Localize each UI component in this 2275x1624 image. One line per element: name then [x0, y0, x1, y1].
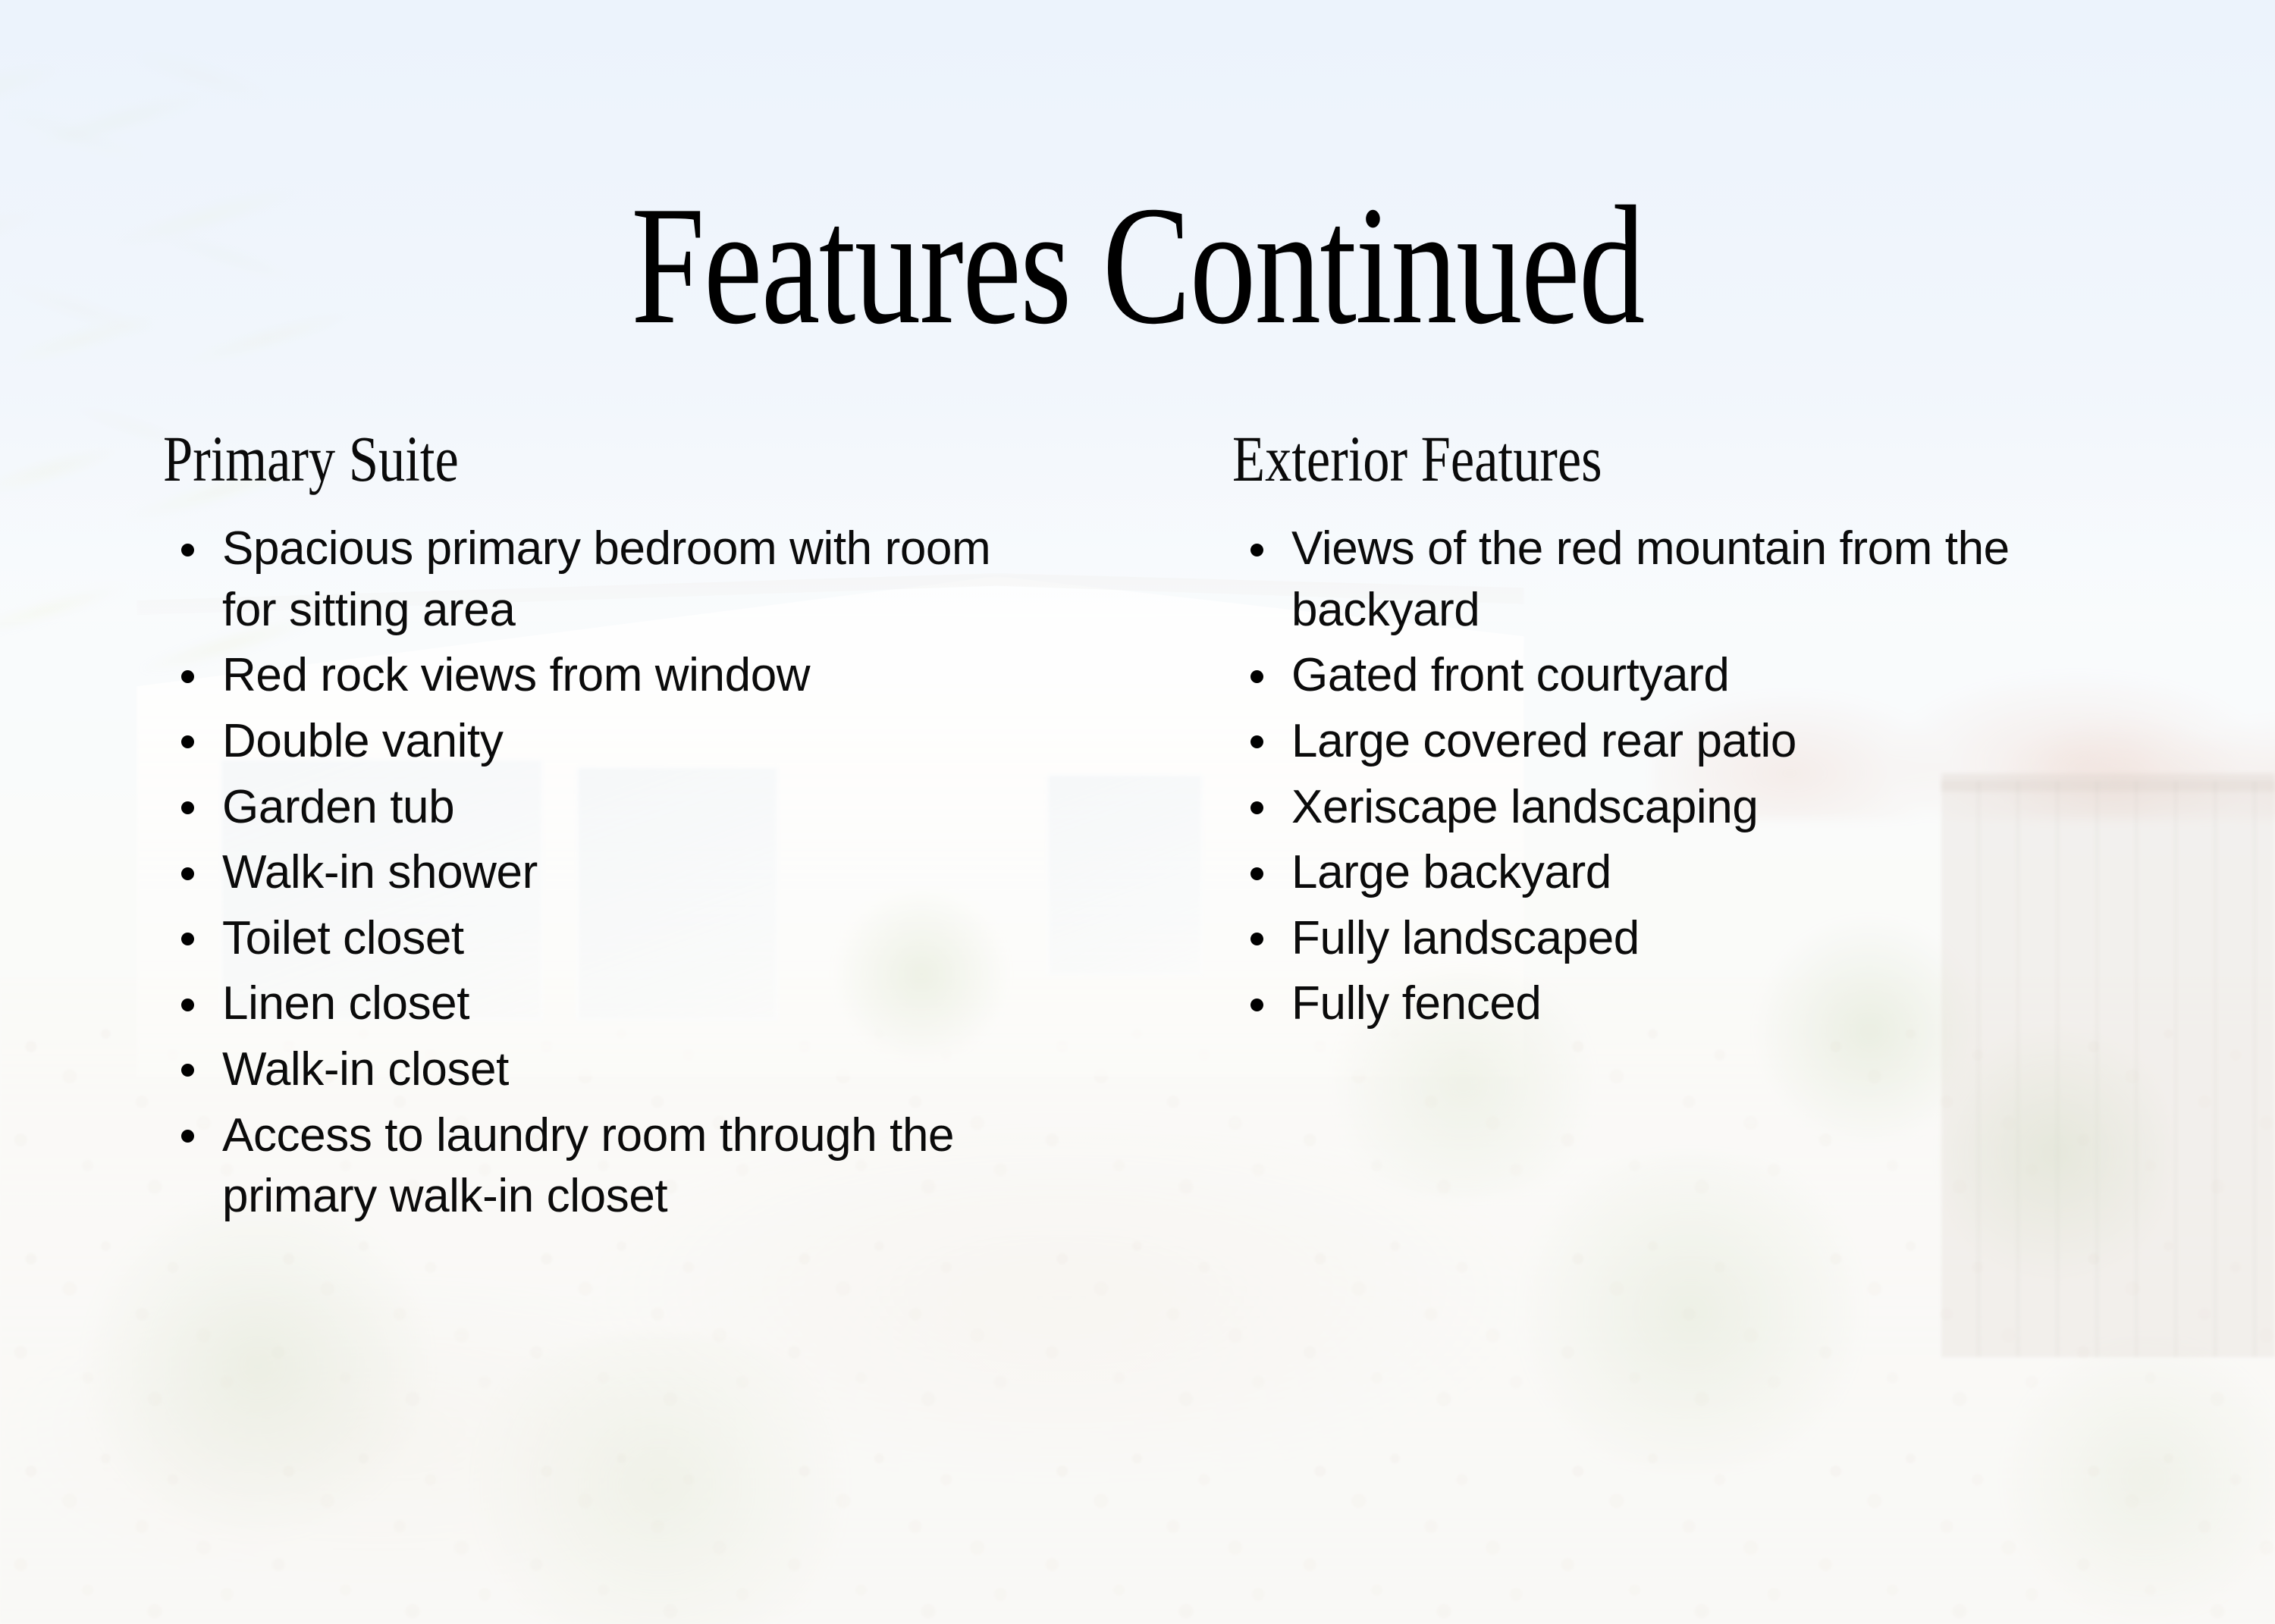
- column-heading-primary-suite: Primary Suite: [163, 425, 921, 493]
- list-item: Large covered rear patio: [1232, 711, 2080, 773]
- list-item: Double vanity: [163, 711, 1026, 773]
- list-item: Garden tub: [163, 777, 1026, 839]
- column-exterior-features: Exterior Features Views of the red mount…: [1232, 425, 2127, 1039]
- list-item: Xeriscape landscaping: [1232, 777, 2080, 839]
- list-item: Toilet closet: [163, 908, 1026, 970]
- list-item: Red rock views from window: [163, 645, 1026, 707]
- slide-canvas: Features Continued Primary Suite Spaciou…: [0, 0, 2275, 1624]
- list-item: Spacious primary bedroom with room for s…: [163, 519, 1026, 641]
- feature-list-primary-suite: Spacious primary bedroom with room for s…: [163, 519, 1088, 1227]
- column-heading-exterior-features: Exterior Features: [1232, 425, 1966, 493]
- list-item: Large backyard: [1232, 842, 2080, 904]
- page-title: Features Continued: [250, 180, 2025, 350]
- column-primary-suite: Primary Suite Spacious primary bedroom w…: [163, 425, 1088, 1232]
- list-item: Gated front courtyard: [1232, 645, 2080, 707]
- slide-content: Features Continued Primary Suite Spaciou…: [0, 0, 2275, 1624]
- list-item: Views of the red mountain from the backy…: [1232, 519, 2080, 641]
- list-item: Fully landscaped: [1232, 908, 2080, 970]
- list-item: Walk-in closet: [163, 1039, 1026, 1101]
- list-item: Fully fenced: [1232, 973, 2080, 1035]
- list-item: Walk-in shower: [163, 842, 1026, 904]
- feature-list-exterior-features: Views of the red mountain from the backy…: [1232, 519, 2127, 1035]
- list-item: Access to laundry room through the prima…: [163, 1105, 1026, 1227]
- list-item: Linen closet: [163, 973, 1026, 1035]
